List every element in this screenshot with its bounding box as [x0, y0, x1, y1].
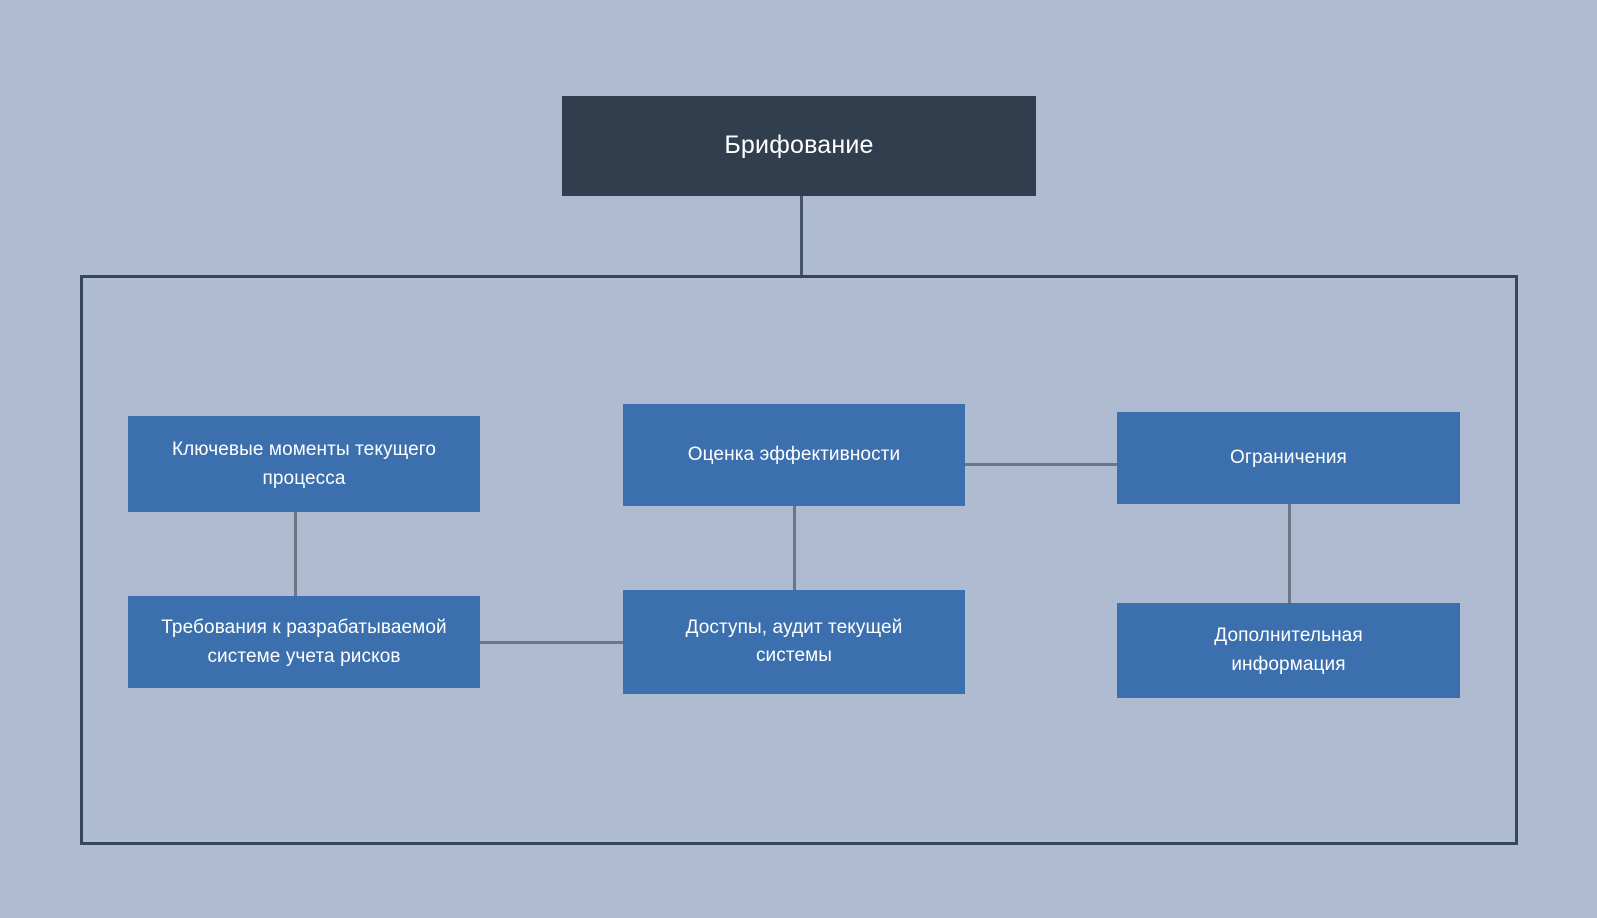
connector-limitations-to-additional-info — [1288, 503, 1291, 605]
node-additional-info[interactable]: Дополнительная информация — [1117, 603, 1460, 698]
connector-effectiveness-to-limitations — [965, 463, 1118, 466]
node-additional-info-label: Дополнительная информация — [1214, 622, 1362, 679]
node-effectiveness-label: Оценка эффективности — [688, 441, 900, 470]
node-effectiveness[interactable]: Оценка эффективности — [623, 404, 965, 506]
diagram-canvas: Брифование Ключевые моменты текущего про… — [0, 0, 1597, 918]
node-brifovanie[interactable]: Брифование — [562, 96, 1036, 196]
connector-requirements-to-access-audit — [480, 641, 624, 644]
node-brifovanie-label: Брифование — [724, 129, 873, 163]
connector-key-moments-to-requirements — [294, 511, 297, 598]
node-requirements-label: Требования к разрабатываемой системе уче… — [130, 613, 478, 672]
node-limitations-label: Ограничения — [1230, 444, 1347, 473]
node-key-moments[interactable]: Ключевые моменты текущего процесса — [128, 416, 480, 512]
node-limitations[interactable]: Ограничения — [1117, 412, 1460, 504]
connector-title-to-group — [800, 196, 803, 278]
node-requirements[interactable]: Требования к разрабатываемой системе уче… — [128, 596, 480, 688]
connector-effectiveness-to-access-audit — [793, 505, 796, 592]
node-access-audit-label: Доступы, аудит текущей системы — [686, 614, 903, 671]
node-access-audit[interactable]: Доступы, аудит текущей системы — [623, 590, 965, 694]
node-key-moments-label: Ключевые моменты текущего процесса — [130, 435, 478, 494]
